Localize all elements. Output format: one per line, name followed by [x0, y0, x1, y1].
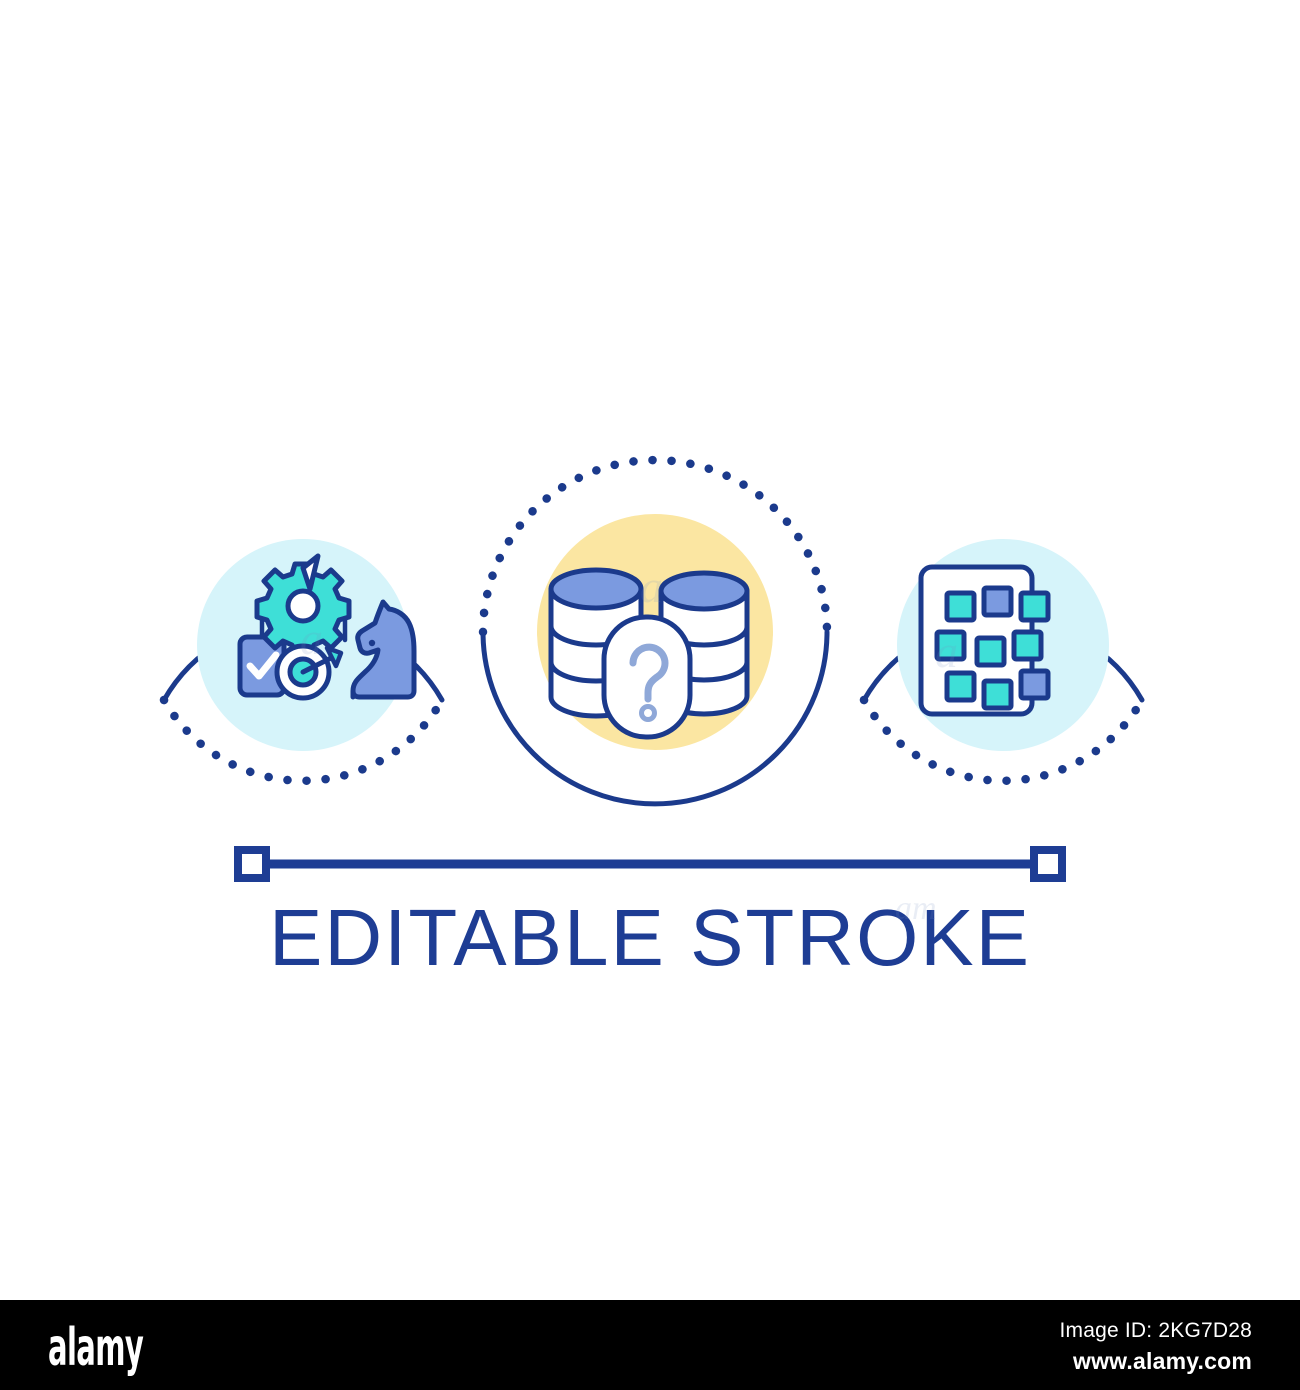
screenshot-stage: EDITABLE STROKE a a a am alamy Image ID:…: [0, 0, 1300, 1390]
stroke-handle-left[interactable]: [238, 850, 266, 878]
watermark-info: Image ID: 2KG7D28 www.alamy.com: [1060, 1316, 1253, 1376]
node-strategy[interactable]: [164, 539, 442, 781]
stroke-handle-right[interactable]: [1034, 850, 1062, 878]
editable-stroke-measure[interactable]: [238, 850, 1062, 878]
node-database-question[interactable]: [483, 460, 827, 804]
gear-icon: [257, 564, 349, 655]
alamy-logo: alamy: [48, 1322, 143, 1374]
editable-stroke-caption: EDITABLE STROKE: [0, 893, 1300, 983]
illustration-artboard: EDITABLE STROKE a a a am: [0, 0, 1300, 1300]
image-id-label: Image ID: 2KG7D28: [1060, 1316, 1253, 1346]
data-grid-icon: [921, 567, 1048, 714]
node-data-grid[interactable]: [864, 539, 1142, 781]
alamy-watermark-bar: alamy Image ID: 2KG7D28 www.alamy.com: [0, 1300, 1300, 1390]
question-mark-card: [604, 617, 690, 737]
grid-squares: [937, 588, 1048, 708]
loop-concept-illustration: [0, 0, 1300, 1300]
alamy-url[interactable]: www.alamy.com: [1060, 1346, 1253, 1376]
